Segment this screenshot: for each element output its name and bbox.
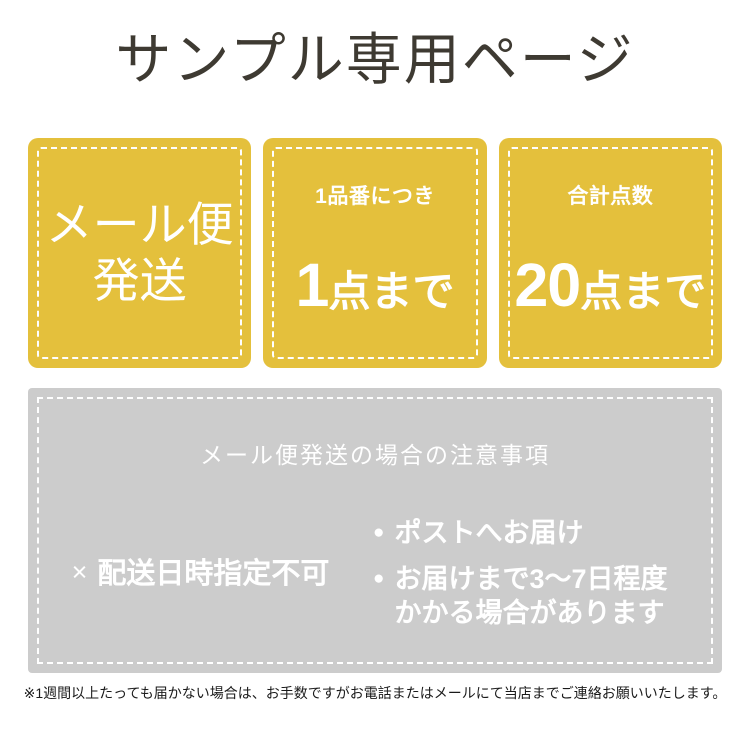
shipping-cards-row: メール便 発送 1品番につき 1 点まで 合計点数 20 点まで [28,138,722,368]
notice-bullet-list: ● ポストへお届け ● お届けまで3〜7日程度 かかる場合があります [373,516,722,630]
page-title: サンプル専用ページ [0,28,750,92]
shipping-card-mail-line2: 発送 [28,253,251,309]
per-item-limit-caption: 1品番につき [263,184,486,210]
per-item-limit-number: 1 [296,254,329,316]
bullet-dot-icon: ● [373,516,384,550]
spacer [499,210,722,254]
notice-restriction-label: 配送日時指定不可 [97,558,329,590]
shipping-card-content: メール便 発送 [28,197,251,309]
per-item-limit-value: 1 点まで [263,254,486,323]
total-limit-caption: 合計点数 [499,184,722,210]
notice-body: ×配送日時指定不可 ● ポストへお届け ● お届けまで3〜7日程度 かかる場合が… [28,498,722,648]
list-item-line: お届けまで3〜7日程度 [394,564,667,594]
list-item-line: かかる場合があります [394,598,664,628]
notice-restriction: ×配送日時指定不可 [28,553,373,593]
per-item-limit-unit: 点まで [328,261,454,323]
bullet-dot-icon: ● [373,562,384,596]
list-item-line: ポストへお届け [394,518,583,548]
list-item: ● ポストへお届け [373,516,722,550]
list-item-text: お届けまで3〜7日程度 かかる場合があります [394,562,667,630]
list-item-text: ポストへお届け [394,516,583,550]
cross-icon: × [72,553,88,591]
shipping-card-total-limit: 合計点数 20 点まで [499,138,722,368]
shipping-card-mail-line1: メール便 [28,197,251,253]
list-item: ● お届けまで3〜7日程度 かかる場合があります [373,562,722,630]
total-limit-number: 20 [514,254,580,316]
shipping-card-mail-delivery: メール便 発送 [28,138,251,368]
notice-panel: メール便発送の場合の注意事項 ×配送日時指定不可 ● ポストへお届け ● お届け… [28,388,722,673]
total-limit-unit: 点まで [580,261,706,323]
footer-note: ※1週間以上たっても届かない場合は、お手数ですがお電話またはメールにて当店までご… [0,683,750,703]
total-limit-value: 20 点まで [499,254,722,323]
shipping-card-per-item-limit: 1品番につき 1 点まで [263,138,486,368]
shipping-card-content: 合計点数 20 点まで [499,184,722,323]
spacer [263,210,486,254]
notice-heading: メール便発送の場合の注意事項 [28,440,722,470]
shipping-card-content: 1品番につき 1 点まで [263,184,486,323]
